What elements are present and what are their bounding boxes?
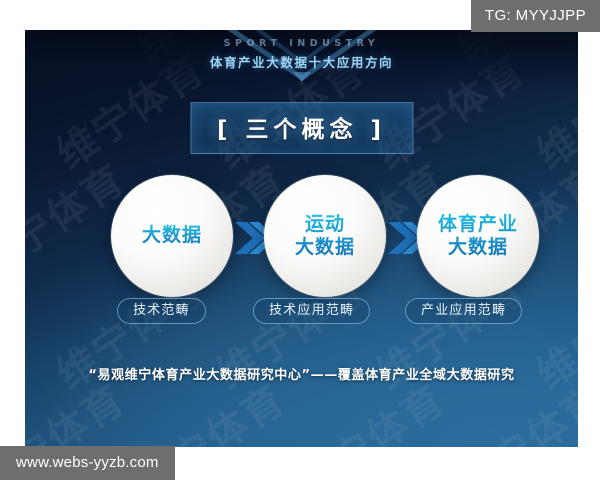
concept-circle-label-2: 运动 大数据 xyxy=(295,213,355,259)
concept-line: 大数据 xyxy=(295,236,355,259)
scope-pill-technology-application: 技术应用范畴 xyxy=(253,298,370,324)
concept-circle-sports-industry-big-data: 体育产业 大数据 xyxy=(417,175,539,297)
concept-circle-label-3: 体育产业 大数据 xyxy=(438,213,518,259)
concept-circle-sports-big-data: 运动 大数据 xyxy=(264,175,386,297)
page-title: [ 三个概念 ] xyxy=(217,110,386,144)
footer-caption: “易观维宁体育产业大数据研究中心”——覆盖体育产业全域大数据研究 xyxy=(25,364,578,383)
concept-line: 运动 xyxy=(295,213,355,236)
header-chinese-title: 体育产业大数据十大应用方向 xyxy=(25,52,578,71)
concept-circle-label-1: 大数据 xyxy=(142,224,202,247)
concept-line: 体育产业 xyxy=(438,213,518,236)
telegram-handle-badge: TG: MYYJJPP xyxy=(471,0,600,32)
website-url-badge: www.webs-yyzb.com xyxy=(0,446,175,480)
concept-line: 大数据 xyxy=(142,224,202,246)
header-text-group: SPORT INDUSTRY 体育产业大数据十大应用方向 xyxy=(25,38,578,71)
header-english-title: SPORT INDUSTRY xyxy=(25,38,578,49)
poster-slide: 维宁体育维宁体育维宁体育维宁体育维宁体育维宁体育维宁体育维宁体育维宁体育维宁体育… xyxy=(25,30,578,447)
concept-circle-big-data: 大数据 xyxy=(111,175,233,297)
header-band: SPORT INDUSTRY 体育产业大数据十大应用方向 xyxy=(25,30,578,92)
scope-pill-technology: 技术范畴 xyxy=(117,298,206,324)
scope-pill-industry-application: 产业应用范畴 xyxy=(405,298,522,324)
scope-pills-row: 技术范畴 技术应用范畴 产业应用范畴 xyxy=(25,298,578,328)
concept-circles-row: 大数据 运动 大数据 体育产业 大数据 xyxy=(25,175,578,305)
title-box: [ 三个概念 ] xyxy=(190,102,413,154)
concept-line: 大数据 xyxy=(438,236,518,259)
